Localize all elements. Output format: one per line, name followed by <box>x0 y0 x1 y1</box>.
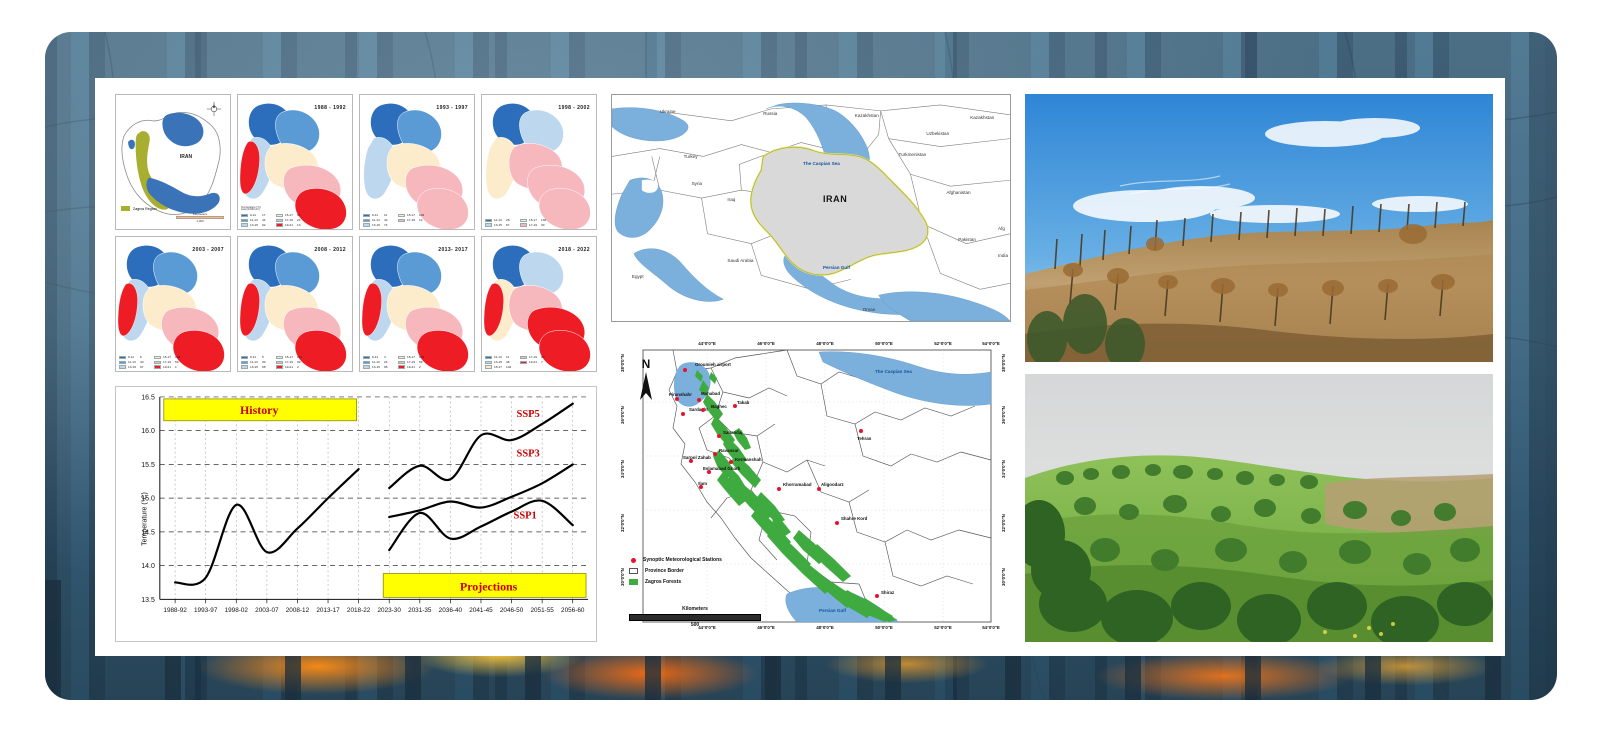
svg-text:2046-50: 2046-50 <box>500 607 524 614</box>
y-axis-label-left: 30°0'0"N <box>620 568 625 586</box>
legend-class-swatch <box>398 365 405 369</box>
legend-class-label: 13-15 <box>250 224 260 227</box>
legend-class-swatch <box>398 219 405 223</box>
legend-class-swatch <box>485 356 492 360</box>
legend-class-row: 13-15 74 <box>363 223 393 227</box>
zagros-map-legend: Synoptic Meteorological Stations Provinc… <box>629 557 722 590</box>
locator-scale-value: 1,000 <box>176 219 224 223</box>
station-label: Takab <box>737 400 749 405</box>
y-axis-label-right: 38°0'0"N <box>1001 354 1006 372</box>
station-label: Kermanshah <box>735 457 762 462</box>
svg-text:2051-55: 2051-55 <box>530 607 554 614</box>
overview-map-shapes <box>612 95 1010 321</box>
legend-class-value: 67 <box>297 214 306 217</box>
legend-class-value: 14 <box>419 219 428 222</box>
legend-class-label: 19-21 <box>285 224 295 227</box>
legend-class-label: 13-15 <box>494 361 504 364</box>
temperature-map-shape <box>360 95 474 229</box>
legend-class-label: 9-11 <box>128 356 138 359</box>
legend-class-swatch <box>398 214 405 218</box>
station-label: Baghec <box>711 404 727 409</box>
temperature-projection-chart[interactable]: Temperature (°C) 13.514.014.515.015.516.… <box>115 386 597 642</box>
station-label: Tehran <box>857 436 871 441</box>
legend-class-swatch <box>398 361 405 365</box>
legend-class-value: 5 <box>262 356 271 359</box>
legend-class-label: 15-17 <box>529 219 539 222</box>
legend-class-swatch <box>363 356 370 360</box>
compass-rose-icon <box>206 101 222 117</box>
legend-province-label: Province Border <box>645 568 684 574</box>
legend-class-row: 9-11 17 <box>241 214 271 218</box>
x-axis-label-bottom: 52°0'0"E <box>934 625 952 630</box>
legend-class-row: 11-13 24 <box>363 361 393 365</box>
legend-class-swatch <box>276 365 283 369</box>
legend-class-row: 19-21 1 <box>154 365 184 369</box>
temperature-map-shape <box>360 237 474 371</box>
temperature-map-title: 1988 - 1992 <box>314 105 346 111</box>
province-border-swatch <box>629 568 638 574</box>
legend-class-swatch <box>276 214 283 218</box>
history-annotation: History <box>240 403 278 417</box>
legend-class-label: 13-15 <box>250 366 260 369</box>
legend-class-row: 19-21 2 <box>276 365 306 369</box>
station-label: Oroumieh airport <box>695 362 731 367</box>
legend-class-label: 13-15 <box>494 224 504 227</box>
station-marker[interactable] <box>859 429 863 433</box>
legend-class-row: 9-11 11 <box>363 214 393 218</box>
legend-class-swatch <box>241 356 248 360</box>
country-label: Russia <box>763 111 777 116</box>
country-label: Syria <box>692 181 702 186</box>
legend-class-swatch <box>119 365 126 369</box>
station-marker[interactable] <box>835 521 839 525</box>
temperature-map-legend: 9-11 11 11-13 44 13-15 74 15-17 102 17-1… <box>363 214 428 227</box>
legend-class-label: 15-17 <box>285 356 295 359</box>
svg-text:13.5: 13.5 <box>141 597 155 604</box>
legend-class-value: 17 <box>262 214 271 217</box>
legend-class-swatch <box>276 219 283 223</box>
station-label: Ravansar <box>719 448 739 453</box>
station-label: Aligoodarz <box>821 482 844 487</box>
legend-class-value: 44 <box>262 219 271 222</box>
temperature-map-panel[interactable]: 1988 - 1992 Temperature (°C)Area (1000 k… <box>237 94 353 230</box>
legend-class-label: 11-13 <box>494 356 504 359</box>
sea-label: The Caspian Sea <box>875 369 912 374</box>
legend-class-row: 19-21 7 <box>520 361 550 365</box>
x-axis-label-top: 44°0'0"E <box>698 341 716 346</box>
svg-text:1998-02: 1998-02 <box>225 607 249 614</box>
legend-class-value: 24 <box>384 361 393 364</box>
legend-class-label: 15-17 <box>407 356 417 359</box>
legend-class-row: 15-17 67 <box>276 214 306 218</box>
legend-class-value: 66 <box>384 366 393 369</box>
temperature-map-shape <box>116 237 230 371</box>
legend-class-value: 3 <box>384 356 393 359</box>
svg-text:2013-17: 2013-17 <box>316 607 340 614</box>
zagros-region-label: Zagros Region <box>133 207 157 211</box>
legend-stations-label: Synoptic Meteorological Stations <box>643 557 722 563</box>
station-label: Sarpol Zahab <box>683 455 711 460</box>
legend-class-row: 17-19 39 <box>276 361 306 365</box>
temperature-map-title: 2003 - 2007 <box>192 247 224 253</box>
middle-column: UkraineRussiaKazakhstanKazakhstanUzbekis… <box>611 94 1011 642</box>
legend-class-value: 13 <box>297 224 306 227</box>
legend-class-row: 15-17 136 <box>520 219 550 223</box>
legend-class-row: 11-13 44 <box>363 219 393 223</box>
y-axis-label-right: 36°0'0"N <box>1001 406 1006 424</box>
legend-class-swatch <box>276 356 283 360</box>
right-column <box>1025 94 1493 642</box>
x-axis-label-bottom: 54°0'0"E <box>982 625 1000 630</box>
legend-class-row: 17-19 90 <box>520 356 550 360</box>
svg-text:15.0: 15.0 <box>141 496 155 503</box>
scale-bar <box>629 614 761 621</box>
legend-class-label: 15-17 <box>494 366 504 369</box>
temperature-map-panel[interactable]: 1993 - 1997 9-11 11 11-13 44 13-15 74 15… <box>359 94 475 230</box>
temperature-map-legend: 11-13 11 13-15 48 15-17 102 17-19 90 19-… <box>485 356 550 369</box>
legend-class-label: 9-11 <box>372 356 382 359</box>
country-label: India <box>998 253 1008 258</box>
legend-class-swatch <box>520 219 527 223</box>
legend-class-value: 90 <box>541 356 550 359</box>
x-axis-label-bottom: 50°0'0"E <box>875 625 893 630</box>
station-marker[interactable] <box>777 487 781 491</box>
legend-class-label: 19-21 <box>407 366 417 369</box>
country-label: Iraq <box>727 197 735 202</box>
temperature-map-shape <box>482 237 596 371</box>
legend-class-row: 13-15 92 <box>241 223 271 227</box>
temperature-map-title: 2018 - 2022 <box>558 247 590 253</box>
iran-country-label: IRAN <box>823 194 847 204</box>
legend-class-row: 19-21 2 <box>398 365 428 369</box>
x-axis-label-top: 50°0'0"E <box>875 341 893 346</box>
country-label: Saudi Arabia <box>727 258 753 263</box>
y-axis-label-left: 38°0'0"N <box>620 354 625 372</box>
station-marker[interactable] <box>875 594 879 598</box>
x-axis-label-top: 46°0'0"E <box>757 341 775 346</box>
legend-class-swatch <box>154 365 161 369</box>
country-label: Uzbekistan <box>926 131 949 136</box>
locator-country-label: IRAN <box>180 154 192 160</box>
country-label: Egypt <box>632 274 644 279</box>
regional-overview-map[interactable]: UkraineRussiaKazakhstanKazakhstanUzbekis… <box>611 94 1011 322</box>
legend-class-row: 13-15 68 <box>241 365 271 369</box>
legend-class-value: 1 <box>175 366 184 369</box>
legend-class-value: 6 <box>140 356 149 359</box>
legend-class-swatch <box>485 223 492 227</box>
legend-class-label: 19-21 <box>163 366 173 369</box>
temperature-map-title: 2013- 2017 <box>438 247 468 253</box>
legend-class-swatch <box>154 356 161 360</box>
legend-class-label: 11-13 <box>372 361 382 364</box>
sea-label: Persian Gulf <box>823 265 850 270</box>
svg-text:14.0: 14.0 <box>141 563 155 570</box>
legend-class-label: 17-19 <box>163 361 173 364</box>
temperature-map-title: 1998 - 2002 <box>558 105 590 111</box>
legend-class-value: 50 <box>175 361 184 364</box>
legend-class-label: 11-13 <box>372 219 382 222</box>
locator-map[interactable]: IRAN Zagros Region Kilometers <box>115 94 231 230</box>
country-label: Pakistan <box>958 237 976 242</box>
temperature-map-shape <box>238 237 352 371</box>
legend-row-stations: Synoptic Meteorological Stations <box>629 557 722 563</box>
svg-text:2036-40: 2036-40 <box>439 607 463 614</box>
scale-value-label: 500 <box>629 622 761 628</box>
legend-class-label: 9-11 <box>250 214 260 217</box>
legend-class-row: 9-11 5 <box>241 356 271 360</box>
legend-class-label: 11-13 <box>250 219 260 222</box>
legend-class-row: 11-13 44 <box>241 219 271 223</box>
legend-class-swatch <box>276 223 283 227</box>
sea-label: Persian Gulf <box>819 608 846 613</box>
legend-class-swatch <box>154 361 161 365</box>
legend-class-label: 17-19 <box>529 224 539 227</box>
legend-class-value: 7 <box>541 361 550 364</box>
legend-class-value: 30 <box>541 224 550 227</box>
temperature-map-legend: 9-11 5 11-13 30 13-15 68 15-17 112 17-19… <box>241 356 306 369</box>
legend-class-swatch <box>363 214 370 218</box>
legend-class-label: 17-19 <box>285 219 295 222</box>
legend-class-row: 11-13 28 <box>485 219 515 223</box>
left-column: IRAN Zagros Region Kilometers <box>115 94 597 642</box>
legend-class-row: 11-13 30 <box>241 361 271 365</box>
legend-class-label: 11-13 <box>250 361 260 364</box>
locator-scalebar: Kilometers 1,000 <box>176 212 224 223</box>
chart-canvas: 13.514.014.515.015.516.016.51988-921993-… <box>116 387 596 641</box>
country-label: Ukraine <box>660 109 676 114</box>
legend-class-swatch <box>363 365 370 369</box>
zagros-region-swatch <box>121 206 130 211</box>
legend-row-province: Province Border <box>629 568 722 574</box>
legend-class-row: 15-17 104 <box>398 356 428 360</box>
svg-text:2018-22: 2018-22 <box>347 607 371 614</box>
legend-class-row: 13-15 48 <box>485 361 515 365</box>
svg-text:2003-07: 2003-07 <box>255 607 279 614</box>
legend-class-row: 17-19 59 <box>398 361 428 365</box>
legend-class-swatch <box>520 356 527 360</box>
station-marker[interactable] <box>729 460 733 464</box>
legend-class-swatch <box>241 365 248 369</box>
svg-text:14.5: 14.5 <box>141 529 155 536</box>
legend-row-forests: Zagros Forests <box>629 579 722 585</box>
legend-class-swatch <box>276 361 283 365</box>
series-label: SSP3 <box>517 448 540 459</box>
temperature-map-panel[interactable]: 2003 - 2007 9-11 6 11-13 40 13-15 67 15-… <box>115 236 231 372</box>
svg-text:2056-60: 2056-60 <box>561 607 585 614</box>
station-marker[interactable] <box>683 368 687 372</box>
legend-class-value: 48 <box>506 361 515 364</box>
legend-class-label: 13-15 <box>128 366 138 369</box>
svg-text:16.0: 16.0 <box>141 428 155 435</box>
svg-text:15.5: 15.5 <box>141 462 155 469</box>
zagros-map-scalebar: Kilometers 500 <box>629 606 761 628</box>
temperature-map-legend: Temperature (°C)Area (1000 km²) 9-11 17 … <box>241 207 306 227</box>
series-SSP3 <box>389 464 573 517</box>
north-arrow-icon: N <box>633 356 659 402</box>
y-axis-label-right: 34°0'0"N <box>1001 460 1006 478</box>
legend-class-value: 39 <box>297 361 306 364</box>
legend-class-label: 19-21 <box>529 361 539 364</box>
legend-class-swatch <box>241 223 248 227</box>
temperature-map-legend: 11-13 28 13-15 67 15-17 136 17-19 30 <box>485 219 550 227</box>
legend-class-value: 102 <box>506 366 515 369</box>
legend-class-row: 11-13 11 <box>485 356 515 360</box>
legend-class-row: 13-15 66 <box>363 365 393 369</box>
legend-class-swatch <box>119 361 126 365</box>
legend-class-label: 17-19 <box>407 219 417 222</box>
station-label: Shahre Kord <box>841 516 867 521</box>
country-label: Oman <box>863 307 876 312</box>
station-dot-icon <box>631 558 636 563</box>
legend-class-swatch <box>485 361 492 365</box>
legend-class-row: 13-15 67 <box>119 365 149 369</box>
temperature-map-title: 2008 - 2012 <box>314 247 346 253</box>
legend-class-swatch <box>363 361 370 365</box>
legend-class-swatch <box>241 361 248 365</box>
temperature-map-panel[interactable]: 1998 - 2002 11-13 28 13-15 67 15-17 136 … <box>481 94 597 230</box>
svg-text:2008-12: 2008-12 <box>286 607 310 614</box>
legend-class-swatch <box>520 223 527 227</box>
country-label: Afghanistan <box>946 190 970 195</box>
y-axis-label-right: 30°0'0"N <box>1001 568 1006 586</box>
x-axis-label-top: 52°0'0"E <box>934 341 952 346</box>
station-label: Eslamabad Gharb <box>703 466 740 471</box>
legend-class-row: 11-13 40 <box>119 361 149 365</box>
legend-class-value: 136 <box>541 219 550 222</box>
legend-class-value: 68 <box>262 366 271 369</box>
legend-class-row: 15-17 108 <box>154 356 184 360</box>
legend-class-label: 17-19 <box>285 361 295 364</box>
legend-class-swatch <box>241 219 248 223</box>
legend-class-swatch <box>485 365 492 369</box>
burned-forest-photo[interactable] <box>1025 94 1493 362</box>
station-marker[interactable] <box>717 434 721 438</box>
country-label: Turkmenistan <box>899 152 927 157</box>
legend-class-label: 17-19 <box>407 361 417 364</box>
legend-forests-label: Zagros Forests <box>645 579 681 585</box>
legend-class-label: 9-11 <box>250 356 260 359</box>
figure-stage: IRAN Zagros Region Kilometers <box>0 0 1600 750</box>
legend-class-label: 9-11 <box>372 214 382 217</box>
legend-class-value: 108 <box>175 356 184 359</box>
legend-class-value: 30 <box>262 361 271 364</box>
legend-class-label: 13-15 <box>372 366 382 369</box>
legend-class-value: 44 <box>384 219 393 222</box>
legend-class-label: 15-17 <box>285 214 295 217</box>
legend-class-value: 112 <box>297 356 306 359</box>
legend-class-swatch <box>119 356 126 360</box>
green-forest-photo[interactable] <box>1025 374 1493 642</box>
country-label: Kazakhstan <box>970 115 994 120</box>
legend-class-value: 74 <box>384 224 393 227</box>
legend-class-row: 17-19 30 <box>520 223 550 227</box>
legend-class-swatch <box>363 219 370 223</box>
temperature-map-title: 1993 - 1997 <box>436 105 468 111</box>
legend-class-label: 11-13 <box>128 361 138 364</box>
station-label: Piranshahr <box>669 392 692 397</box>
y-axis-label-right: 32°0'0"N <box>1001 514 1006 532</box>
country-label: Kazakhstan <box>855 113 879 118</box>
locator-legend: Zagros Region <box>121 206 157 211</box>
legend-class-value: 40 <box>140 361 149 364</box>
legend-class-label: 15-17 <box>407 214 417 217</box>
station-label: Sanandaj <box>723 430 743 435</box>
content-panel: IRAN Zagros Region Kilometers <box>95 78 1505 656</box>
station-label: Khorramabad <box>783 482 812 487</box>
legend-class-label: 11-13 <box>494 219 504 222</box>
legend-class-value: 2 <box>297 366 306 369</box>
svg-text:1988-92: 1988-92 <box>163 607 187 614</box>
y-axis-label-left: 34°0'0"N <box>620 460 625 478</box>
legend-class-value: 11 <box>384 214 393 217</box>
svg-text:2041-45: 2041-45 <box>469 607 493 614</box>
y-axis-label-left: 32°0'0"N <box>620 514 625 532</box>
station-marker[interactable] <box>817 487 821 491</box>
temperature-map-legend: 9-11 6 11-13 40 13-15 67 15-17 108 17-19… <box>119 356 184 369</box>
temperature-map-panel[interactable]: 2018 - 2022 11-13 11 13-15 48 15-17 102 … <box>481 236 597 372</box>
station-label: Ilam <box>698 481 707 486</box>
legend-class-swatch <box>520 361 527 365</box>
forest-swatch <box>629 579 638 585</box>
svg-text:16.5: 16.5 <box>141 395 155 402</box>
country-label: Turkey <box>684 154 698 159</box>
country-label: Afg <box>998 226 1005 231</box>
station-label: Mahabad <box>701 391 720 396</box>
legend-class-row: 17-19 14 <box>398 219 428 223</box>
x-axis-label-top: 48°0'0"E <box>816 341 834 346</box>
legend-class-value: 104 <box>419 356 428 359</box>
svg-text:N: N <box>642 357 651 371</box>
legend-class-row: 9-11 6 <box>119 356 149 360</box>
x-axis-label-bottom: 48°0'0"E <box>816 625 834 630</box>
legend-class-row: 13-15 67 <box>485 223 515 227</box>
legend-class-label: 13-15 <box>372 224 382 227</box>
series-label: SSP5 <box>517 409 540 420</box>
legend-class-row: 15-17 102 <box>485 365 515 369</box>
legend-class-row: 17-19 23 <box>276 219 306 223</box>
legend-class-value: 59 <box>419 361 428 364</box>
legend-class-value: 67 <box>140 366 149 369</box>
x-axis-label-top: 54°0'0"E <box>982 341 1000 346</box>
svg-text:2031-35: 2031-35 <box>408 607 432 614</box>
temperature-map-panel[interactable]: 2013- 2017 9-11 3 11-13 24 13-15 66 15-1… <box>359 236 475 372</box>
series-label: SSP1 <box>514 510 537 521</box>
sea-label: The Caspian Sea <box>803 161 840 166</box>
legend-class-value: 28 <box>506 219 515 222</box>
legend-class-value: 11 <box>506 356 515 359</box>
scale-unit-label: Kilometers <box>629 606 761 612</box>
legend-class-label: 19-21 <box>285 366 295 369</box>
legend-header: Temperature (°C)Area (1000 km²) <box>241 207 271 212</box>
temperature-map-panel[interactable]: 2008 - 2012 9-11 5 11-13 30 13-15 68 15-… <box>237 236 353 372</box>
station-label: Shiraz <box>881 590 894 595</box>
legend-class-swatch <box>485 219 492 223</box>
legend-class-label: 17-19 <box>529 356 539 359</box>
burned-forest-image <box>1025 94 1493 362</box>
legend-class-row: 19-21 13 <box>276 223 306 227</box>
legend-class-label: 15-17 <box>163 356 173 359</box>
svg-text:1993-97: 1993-97 <box>194 607 218 614</box>
legend-class-swatch <box>241 214 248 218</box>
legend-class-value: 67 <box>506 224 515 227</box>
temperature-map-shape <box>482 95 596 229</box>
zagros-forest-map[interactable]: 44°0'0"E44°0'0"E46°0'0"E46°0'0"E48°0'0"E… <box>611 332 1011 642</box>
station-marker[interactable] <box>697 398 701 402</box>
projections-annotation: Projections <box>460 579 518 593</box>
green-forest-image <box>1025 374 1493 642</box>
legend-class-row: 17-19 50 <box>154 361 184 365</box>
legend-class-value: 102 <box>419 214 428 217</box>
